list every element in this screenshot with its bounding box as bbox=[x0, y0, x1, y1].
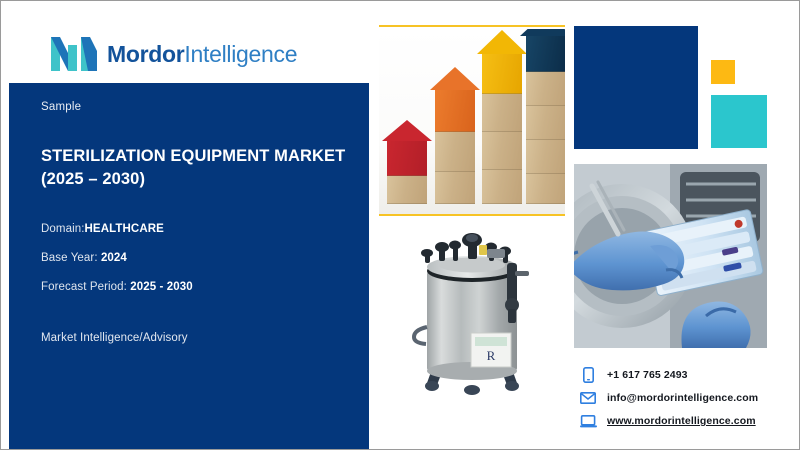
envelope-icon-glyph bbox=[580, 392, 596, 404]
contact-row-phone[interactable]: +1 617 765 2493 bbox=[579, 365, 794, 385]
meta-row-domain: Domain:HEALTHCARE bbox=[41, 223, 351, 235]
autoclave-sterilizer-photo: R bbox=[379, 223, 565, 398]
brand-name-light: Intelligence bbox=[184, 41, 297, 67]
block-tower-1 bbox=[387, 120, 427, 204]
brand-name-bold: Mordor bbox=[107, 41, 184, 67]
block-colored bbox=[526, 36, 565, 72]
block-wood bbox=[482, 132, 522, 170]
mordor-m-logo-icon bbox=[51, 37, 97, 71]
autoclave-loading-photo bbox=[574, 164, 767, 348]
meta-label-base-year: Base Year: bbox=[41, 252, 98, 264]
decor-navy-square bbox=[574, 26, 698, 149]
contact-phone-text: +1 617 765 2493 bbox=[607, 369, 688, 381]
roof-icon bbox=[430, 67, 480, 90]
decor-amber-square bbox=[711, 60, 735, 84]
brand-wordmark: MordorIntelligence bbox=[107, 43, 297, 66]
meta-label-forecast-period: Forecast Period: bbox=[41, 281, 127, 293]
block-wood bbox=[482, 94, 522, 132]
accent-line-top bbox=[379, 25, 565, 27]
meta-value-forecast-period: 2025 - 2030 bbox=[130, 281, 193, 293]
monitor-icon bbox=[579, 413, 597, 429]
block-colored bbox=[435, 90, 475, 132]
contact-email-text: info@mordorintelligence.com bbox=[607, 392, 758, 404]
sample-label: Sample bbox=[41, 101, 81, 113]
brand-logo[interactable]: MordorIntelligence bbox=[51, 37, 297, 71]
meta-row-base-year: Base Year: 2024 bbox=[41, 252, 351, 264]
advisory-label: Market Intelligence/Advisory bbox=[41, 332, 188, 344]
svg-text:R: R bbox=[487, 348, 496, 363]
report-meta-list: Domain:HEALTHCARE Base Year: 2024 Foreca… bbox=[41, 223, 351, 310]
contact-info: +1 617 765 2493 info@mordorintelligence.… bbox=[579, 365, 794, 434]
decor-teal-square bbox=[711, 95, 767, 148]
block-wood bbox=[482, 170, 522, 204]
contact-row-website[interactable]: www.mordorintelligence.com bbox=[579, 411, 794, 431]
autoclave-illustration: R bbox=[379, 223, 565, 398]
block-wood bbox=[526, 140, 565, 174]
block-tower-3 bbox=[482, 30, 522, 204]
block-wood bbox=[526, 106, 565, 140]
envelope-icon bbox=[579, 390, 597, 406]
roof-icon bbox=[520, 29, 565, 36]
block-wood bbox=[387, 176, 427, 204]
phone-icon bbox=[579, 367, 597, 383]
wooden-blocks-growth-photo bbox=[379, 29, 565, 214]
block-wood bbox=[435, 132, 475, 172]
accent-line-bottom bbox=[379, 214, 565, 216]
contact-website-text[interactable]: www.mordorintelligence.com bbox=[607, 415, 756, 427]
meta-value-domain: HEALTHCARE bbox=[85, 223, 164, 235]
lab-scene-illustration bbox=[574, 164, 767, 348]
report-cover-page: MordorIntelligence Sample STERILIZATION … bbox=[0, 0, 800, 450]
contact-row-email[interactable]: info@mordorintelligence.com bbox=[579, 388, 794, 408]
block-wood bbox=[526, 174, 565, 204]
block-tower-2 bbox=[435, 67, 475, 204]
block-colored bbox=[482, 54, 522, 94]
roof-icon bbox=[382, 120, 432, 141]
phone-icon-glyph bbox=[583, 367, 594, 383]
block-wood bbox=[435, 172, 475, 204]
report-info-panel: Sample STERILIZATION EQUIPMENT MARKET (2… bbox=[9, 83, 369, 450]
block-colored bbox=[387, 141, 427, 176]
meta-label-domain: Domain: bbox=[41, 223, 85, 235]
monitor-icon-glyph bbox=[580, 415, 597, 428]
meta-value-base-year: 2024 bbox=[101, 252, 127, 264]
page-title: STERILIZATION EQUIPMENT MARKET (2025 – 2… bbox=[41, 145, 356, 192]
block-tower-4 bbox=[526, 29, 565, 204]
block-wood bbox=[526, 72, 565, 106]
meta-row-forecast-period: Forecast Period: 2025 - 2030 bbox=[41, 281, 351, 293]
